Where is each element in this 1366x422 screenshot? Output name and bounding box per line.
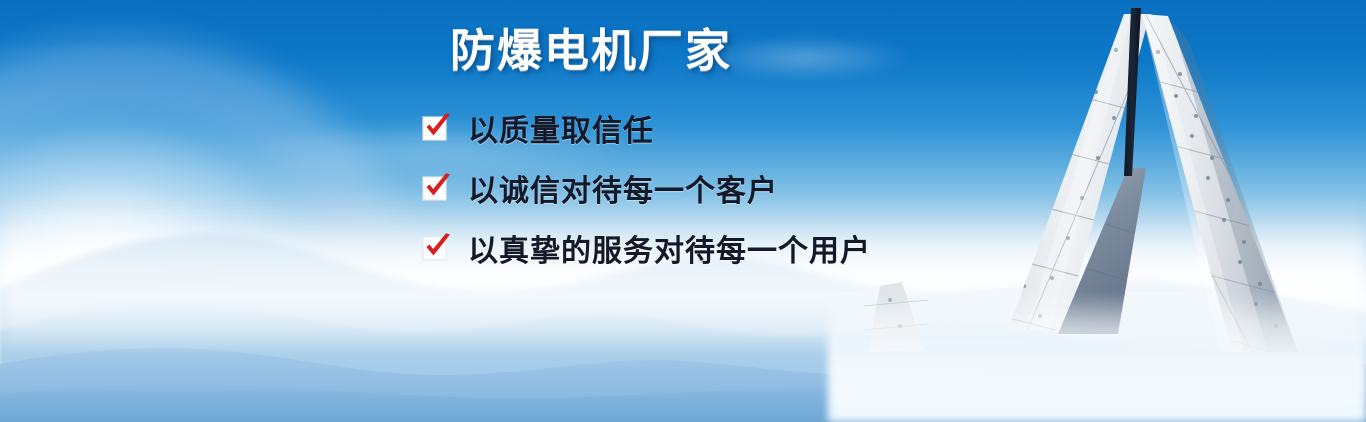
list-item: 以诚信对待每一个客户: [422, 166, 871, 210]
feature-list: 以质量取信任 以诚信对待每一个客户: [422, 106, 871, 286]
red-check-mark-icon: [422, 235, 448, 261]
list-item: 以质量取信任: [422, 106, 871, 150]
promo-banner: 防爆电机厂家 以质量取信任: [0, 0, 1366, 422]
banner-content: 防爆电机厂家 以质量取信任: [0, 0, 900, 422]
page-title: 防爆电机厂家: [450, 25, 732, 77]
list-item: 以真挚的服务对待每一个用户: [422, 226, 871, 270]
list-item-label: 以诚信对待每一个客户: [468, 166, 778, 210]
list-item-label: 以真挚的服务对待每一个用户: [468, 226, 871, 270]
red-check-mark-icon: [422, 175, 448, 201]
concrete-monument: [828, 0, 1366, 422]
red-check-mark-icon: [422, 115, 448, 141]
list-item-label: 以质量取信任: [468, 106, 654, 150]
monument-svg: [828, 0, 1366, 422]
